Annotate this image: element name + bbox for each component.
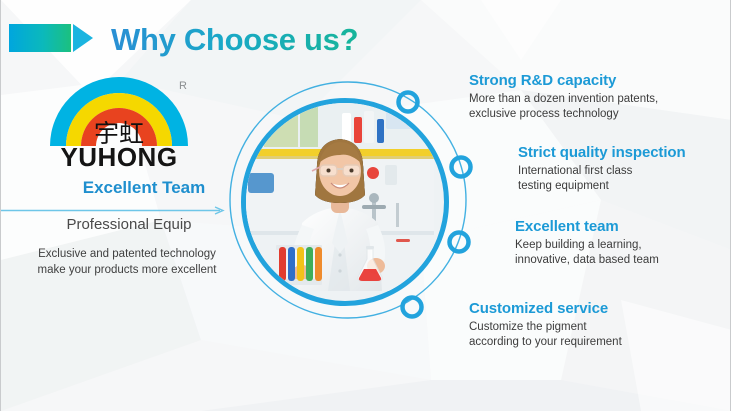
header-chevron-icon [73, 24, 93, 52]
feature-4-line-1: Customize the pigment [469, 321, 587, 333]
feature-2-title: Strict quality inspection [518, 144, 686, 161]
feature-2-line-2: testing equipment [518, 180, 609, 192]
circle-graphic [223, 72, 483, 328]
feature-3-line-1: Keep building a learning, [515, 239, 642, 251]
left-body-text: Exclusive and patented technology make y… [31, 246, 223, 278]
arrow-divider-icon [1, 206, 229, 215]
feature-item-4: Customized service Customize the pigment… [469, 300, 622, 350]
feature-item-3: Excellent team Keep building a learning,… [515, 218, 659, 268]
feature-4-line-2: according to your requirement [469, 336, 622, 348]
feature-2-line-1: International first class [518, 165, 632, 177]
header-accent-bar [9, 24, 71, 52]
feature-4-body: Customize the pigment according to your … [469, 320, 622, 350]
feature-item-1: Strong R&D capacity More than a dozen in… [469, 72, 658, 122]
logo-artwork: 宇虹 YUHONG [44, 76, 194, 168]
left-subheading: Professional Equip [19, 216, 239, 233]
yuhong-logo: 宇虹 YUHONG [44, 76, 194, 168]
slide-canvas: Why Choose us? 宇虹 YUHONG R Excellent Tea… [0, 0, 731, 411]
feature-3-title: Excellent team [515, 218, 659, 235]
lab-photo-illustration [246, 103, 434, 291]
scientist-photo [241, 98, 449, 306]
registered-trademark-mark: R [179, 80, 187, 92]
feature-3-line-2: innovative, data based team [515, 254, 659, 266]
feature-3-body: Keep building a learning, innovative, da… [515, 238, 659, 268]
page-title: Why Choose us? [111, 22, 358, 58]
feature-1-line-1: More than a dozen invention patents, [469, 93, 658, 105]
feature-item-2: Strict quality inspection International … [518, 144, 686, 194]
feature-2-body: International first class testing equipm… [518, 164, 686, 194]
feature-1-title: Strong R&D capacity [469, 72, 658, 89]
feature-4-title: Customized service [469, 300, 622, 317]
left-heading: Excellent Team [44, 178, 244, 198]
feature-1-line-2: exclusive process technology [469, 108, 619, 120]
logo-latin-text: YUHONG [60, 142, 177, 168]
orbit-node-4 [403, 298, 422, 317]
feature-1-body: More than a dozen invention patents, exc… [469, 92, 658, 122]
